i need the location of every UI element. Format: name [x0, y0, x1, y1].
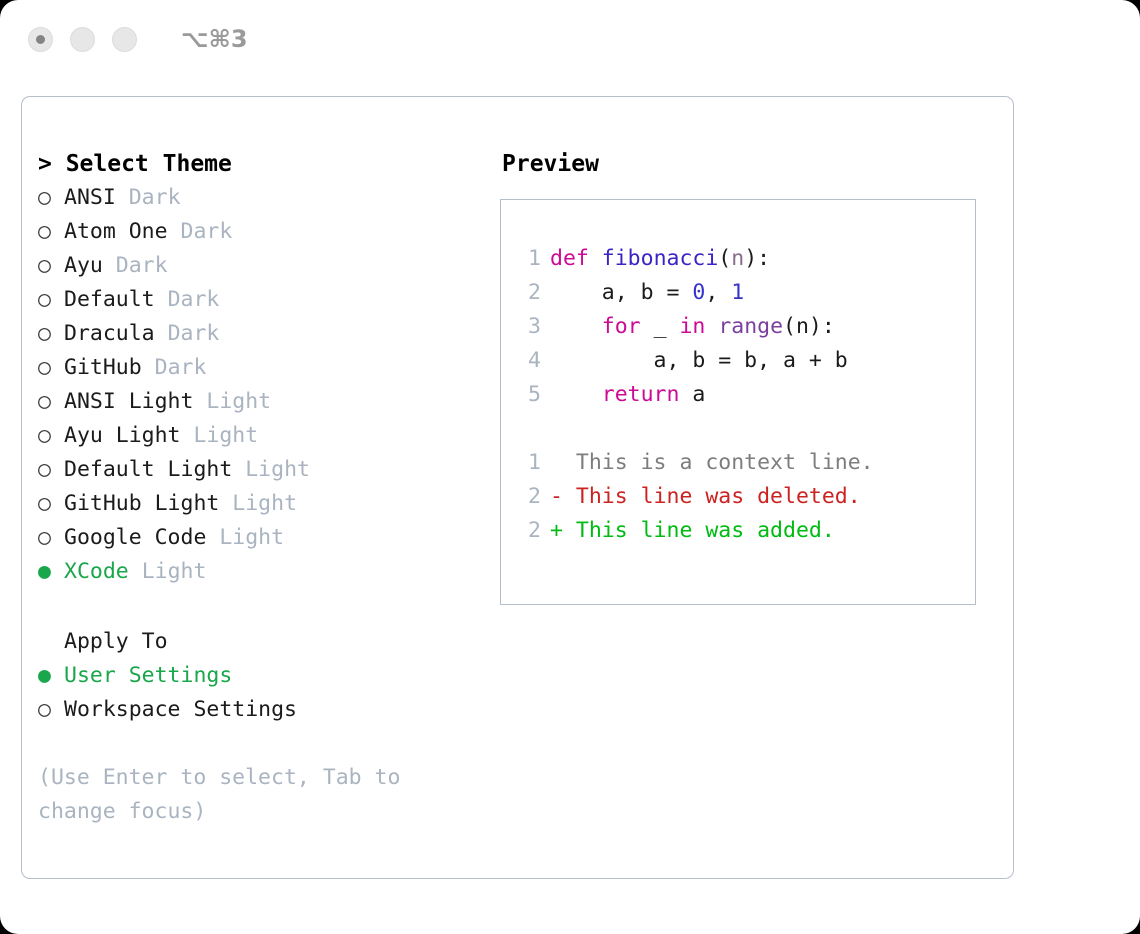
- code-token: fibonacci: [602, 246, 719, 271]
- app-window: ⌥⌘3 > Select Theme ○ANSI Dark○Atom One D…: [0, 0, 1140, 934]
- radio-unselected-icon: ○: [38, 317, 64, 351]
- code-line: 2 a, b = 0, 1: [519, 276, 975, 310]
- select-theme-header: > Select Theme: [38, 147, 492, 181]
- diff-marker: [550, 450, 576, 475]
- theme-list-item[interactable]: ○Atom One Dark: [38, 215, 492, 249]
- apply-to-option[interactable]: ●User Settings: [38, 659, 492, 693]
- theme-name: Default Light: [64, 457, 232, 482]
- theme-category: Light: [232, 491, 297, 516]
- theme-list-item[interactable]: ○Ayu Dark: [38, 249, 492, 283]
- diff-marker: -: [550, 484, 576, 509]
- diff-marker: +: [550, 518, 576, 543]
- code-token: [550, 382, 602, 407]
- code-line-number: 4: [519, 344, 541, 378]
- apply-to-option[interactable]: ○Workspace Settings: [38, 693, 492, 727]
- theme-list: ○ANSI Dark○Atom One Dark○Ayu Dark○Defaul…: [38, 181, 492, 589]
- theme-list-item[interactable]: ○GitHub Dark: [38, 351, 492, 385]
- code-token: 1: [731, 280, 744, 305]
- code-line-number: 1: [519, 242, 541, 276]
- diff-sample: 1 This is a context line.2- This line wa…: [519, 446, 975, 548]
- apply-to-label: User Settings: [64, 663, 232, 688]
- diff-line: 1 This is a context line.: [519, 446, 975, 480]
- code-line-number: 3: [519, 310, 541, 344]
- code-token: a: [679, 382, 705, 407]
- code-line: 1def fibonacci(n):: [519, 242, 975, 276]
- theme-name: GitHub: [64, 355, 142, 380]
- theme-list-item[interactable]: ○Google Code Light: [38, 521, 492, 555]
- theme-list-item[interactable]: ●XCode Light: [38, 555, 492, 589]
- traffic-light-dot-icon: [36, 35, 45, 44]
- theme-selection-panel: > Select Theme ○ANSI Dark○Atom One Dark○…: [22, 97, 492, 878]
- theme-list-item[interactable]: ○GitHub Light Light: [38, 487, 492, 521]
- code-token: ,: [705, 280, 731, 305]
- code-token: [550, 314, 602, 339]
- preview-box: 1def fibonacci(n):2 a, b = 0, 13 for _ i…: [500, 199, 976, 605]
- traffic-light-minimize[interactable]: [70, 27, 95, 52]
- theme-category: Dark: [168, 287, 220, 312]
- theme-list-item[interactable]: ○ANSI Dark: [38, 181, 492, 215]
- theme-gap: [129, 559, 142, 584]
- radio-unselected-icon: ○: [38, 351, 64, 385]
- theme-gap: [219, 491, 232, 516]
- code-token: (n):: [783, 314, 835, 339]
- theme-name: Atom One: [64, 219, 168, 244]
- code-token: range: [718, 314, 783, 339]
- code-line: 5 return a: [519, 378, 975, 412]
- radio-unselected-icon: ○: [38, 487, 64, 521]
- theme-category: Dark: [116, 253, 168, 278]
- radio-unselected-icon: ○: [38, 419, 64, 453]
- diff-line-number: 2: [519, 514, 541, 548]
- code-token: [589, 246, 602, 271]
- theme-name: Google Code: [64, 525, 206, 550]
- theme-category: Light: [206, 389, 271, 414]
- theme-name: XCode: [64, 559, 129, 584]
- code-token: [705, 314, 718, 339]
- code-sample: 1def fibonacci(n):2 a, b = 0, 13 for _ i…: [519, 242, 975, 412]
- apply-to-label: Workspace Settings: [64, 697, 297, 722]
- theme-gap: [206, 525, 219, 550]
- code-line: 3 for _ in range(n):: [519, 310, 975, 344]
- code-token: 0: [692, 280, 705, 305]
- theme-picker-card: > Select Theme ○ANSI Dark○Atom One Dark○…: [21, 96, 1014, 879]
- diff-line: 2+ This line was added.: [519, 514, 975, 548]
- theme-category: Dark: [181, 219, 233, 244]
- window-controls: [28, 27, 137, 52]
- theme-category: Light: [193, 423, 258, 448]
- preview-panel: Preview 1def fibonacci(n):2 a, b = 0, 13…: [492, 97, 1013, 878]
- code-token: ):: [744, 246, 770, 271]
- code-line: 4 a, b = b, a + b: [519, 344, 975, 378]
- theme-name: ANSI Light: [64, 389, 193, 414]
- radio-selected-icon: ●: [38, 659, 64, 693]
- theme-gap: [155, 321, 168, 346]
- diff-line-number: 2: [519, 480, 541, 514]
- code-token: a, b = b, a + b: [550, 348, 848, 373]
- code-token: def: [550, 246, 589, 271]
- theme-name: ANSI: [64, 185, 116, 210]
- radio-unselected-icon: ○: [38, 385, 64, 419]
- diff-text: This is a context line.: [576, 450, 874, 475]
- theme-list-item[interactable]: ○Default Dark: [38, 283, 492, 317]
- diff-line: 2- This line was deleted.: [519, 480, 975, 514]
- radio-unselected-icon: ○: [38, 215, 64, 249]
- theme-name: Ayu Light: [64, 423, 181, 448]
- list-spacer: [38, 589, 492, 625]
- apply-to-header: Apply To: [38, 625, 492, 659]
- diff-line-number: 1: [519, 446, 541, 480]
- theme-name: Default: [64, 287, 155, 312]
- code-token: n: [731, 246, 744, 271]
- keyboard-shortcut-label: ⌥⌘3: [181, 25, 248, 53]
- radio-unselected-icon: ○: [38, 283, 64, 317]
- theme-gap: [142, 355, 155, 380]
- theme-list-item[interactable]: ○Dracula Dark: [38, 317, 492, 351]
- theme-gap: [232, 457, 245, 482]
- radio-unselected-icon: ○: [38, 453, 64, 487]
- traffic-light-close[interactable]: [28, 27, 53, 52]
- apply-to-list: ●User Settings○Workspace Settings: [38, 659, 492, 727]
- code-token: return: [602, 382, 680, 407]
- theme-list-item[interactable]: ○Default Light Light: [38, 453, 492, 487]
- theme-category: Light: [245, 457, 310, 482]
- code-token: for: [602, 314, 641, 339]
- theme-category: Dark: [129, 185, 181, 210]
- keyboard-hint-text: (Use Enter to select, Tab to change focu…: [38, 761, 448, 829]
- code-line-number: 5: [519, 378, 541, 412]
- radio-selected-icon: ●: [38, 555, 64, 589]
- theme-category: Light: [219, 525, 284, 550]
- traffic-light-maximize[interactable]: [112, 27, 137, 52]
- code-line-number: 2: [519, 276, 541, 310]
- theme-gap: [181, 423, 194, 448]
- theme-name: GitHub Light: [64, 491, 219, 516]
- radio-unselected-icon: ○: [38, 693, 64, 727]
- theme-gap: [168, 219, 181, 244]
- title-bar: ⌥⌘3: [0, 0, 1140, 78]
- theme-name: Ayu: [64, 253, 103, 278]
- code-token: (: [718, 246, 731, 271]
- code-token: _: [641, 314, 680, 339]
- theme-gap: [155, 287, 168, 312]
- diff-text: This line was added.: [576, 518, 835, 543]
- theme-gap: [103, 253, 116, 278]
- radio-unselected-icon: ○: [38, 521, 64, 555]
- radio-unselected-icon: ○: [38, 181, 64, 215]
- code-token: in: [679, 314, 705, 339]
- theme-category: Dark: [168, 321, 220, 346]
- radio-unselected-icon: ○: [38, 249, 64, 283]
- theme-name: Dracula: [64, 321, 155, 346]
- theme-category: Light: [142, 559, 207, 584]
- theme-list-item[interactable]: ○ANSI Light Light: [38, 385, 492, 419]
- theme-gap: [193, 389, 206, 414]
- theme-list-item[interactable]: ○Ayu Light Light: [38, 419, 492, 453]
- theme-gap: [116, 185, 129, 210]
- code-diff-separator: [519, 412, 975, 446]
- diff-text: This line was deleted.: [576, 484, 861, 509]
- code-token: a, b =: [550, 280, 692, 305]
- preview-header: Preview: [502, 147, 1013, 181]
- theme-category: Dark: [155, 355, 207, 380]
